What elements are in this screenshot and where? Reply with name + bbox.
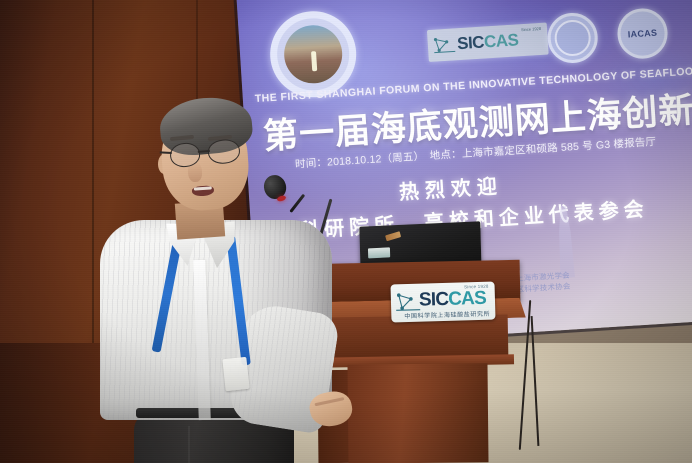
iacas-seal-icon: IACAS — [616, 7, 669, 60]
sign-sic-text: SIC — [419, 289, 449, 311]
laptop-label-sticker — [368, 247, 390, 258]
name-badge — [222, 357, 249, 391]
network-glyph-icon — [432, 35, 457, 54]
network-glyph-icon — [395, 292, 422, 313]
glasses-lens-right — [207, 138, 241, 165]
siccas-cas-text: CAS — [483, 30, 519, 52]
photo-scene: Since 1928 SICCAS IACAS THE FIRST SHANGH… — [0, 0, 692, 463]
trouser-crease — [188, 426, 190, 463]
seafloor-observatory-seal-icon — [268, 9, 359, 100]
iacas-label: IACAS — [627, 28, 657, 40]
podium-siccas-sign: Since 1928 SICCAS 中国科学院上海硅酸盐研究所 — [390, 282, 495, 323]
speaker-nose — [187, 162, 202, 183]
sign-cas-text: CAS — [448, 288, 486, 310]
laptop-sticker — [385, 231, 401, 241]
sign-institute-name: 中国科学院上海硅酸盐研究所 — [404, 309, 490, 320]
siccas-since-text: Since 1928 — [521, 26, 541, 32]
speaker-person — [96, 96, 346, 463]
siccas-sic-text: SIC — [457, 33, 485, 55]
siccas-logo-icon: Since 1928 SICCAS — [427, 23, 549, 62]
cas-seal-icon — [546, 11, 599, 64]
podium-base — [347, 363, 488, 463]
slide-welcome-line1: 热烈欢迎 — [398, 170, 504, 205]
